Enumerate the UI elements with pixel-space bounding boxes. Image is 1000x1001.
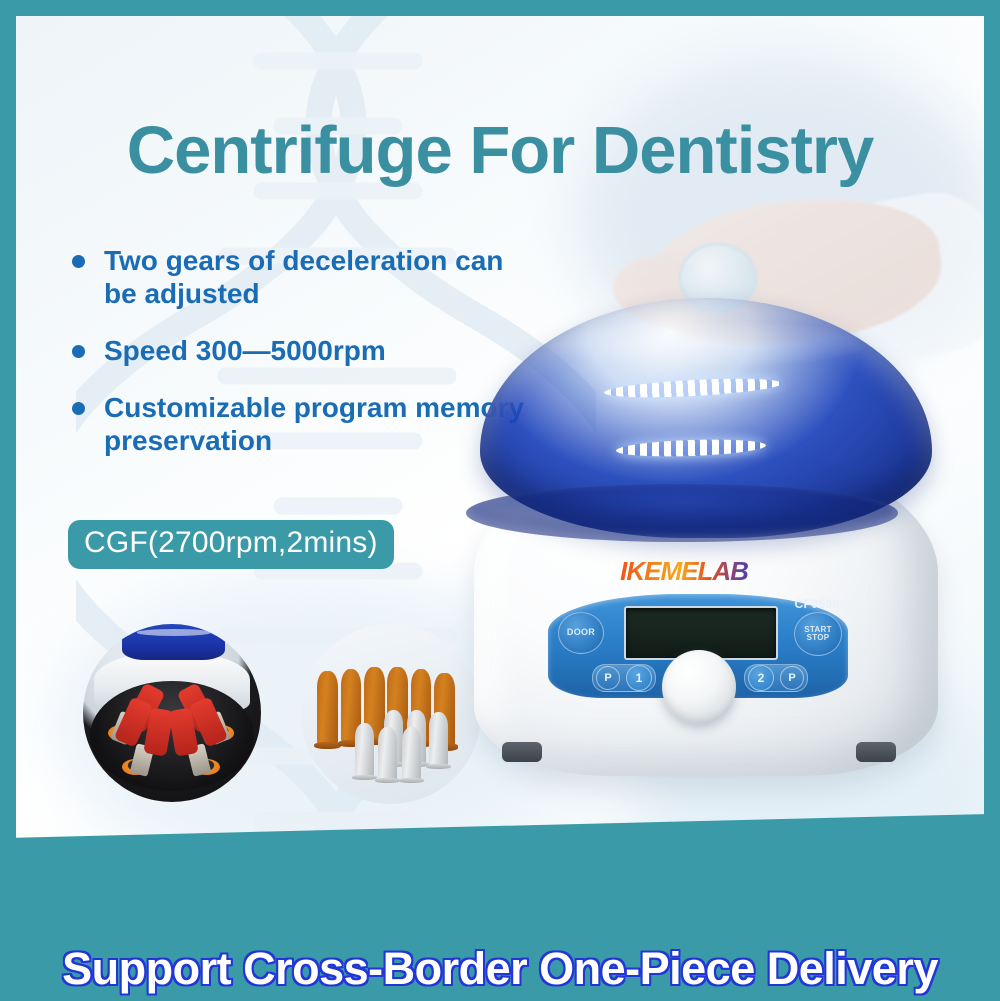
thumbnail-tube-adapters	[301, 624, 481, 804]
content-panel: Centrifuge For Dentistry Two gears of de…	[16, 16, 984, 888]
product-poster: Centrifuge For Dentistry Two gears of de…	[0, 0, 1000, 1001]
program-button-group-left[interactable]: P 1	[592, 664, 656, 692]
bullet-dot-icon	[72, 255, 85, 268]
bullet-dot-icon	[72, 402, 85, 415]
bottom-banner: Support Cross-Border One-Piece Delivery	[0, 881, 1000, 1001]
rotor-blue-lid	[122, 624, 225, 660]
white-adapter	[429, 712, 448, 766]
orange-adapter	[317, 671, 338, 745]
program-button-group-right[interactable]: 2 P	[744, 664, 808, 692]
white-adapter	[355, 723, 374, 777]
door-button[interactable]: DOOR	[558, 612, 604, 654]
program-p-button[interactable]: P	[780, 666, 804, 690]
program-2-button[interactable]: 2	[748, 665, 774, 691]
centrifuge-machine: IKEMELAB CF0506 DOOR START STOP P 1 2 P	[456, 298, 956, 808]
rubber-foot	[502, 742, 542, 762]
model-number: CF0506	[786, 597, 848, 611]
banner-text: Support Cross-Border One-Piece Delivery	[0, 943, 1000, 995]
brand-logo: IKEMELAB	[584, 556, 784, 587]
lid-gloss-highlight	[543, 320, 868, 368]
white-adapter	[402, 727, 421, 781]
page-title: Centrifuge For Dentistry	[16, 112, 984, 189]
start-stop-button[interactable]: START STOP	[794, 612, 842, 656]
white-adapter	[378, 727, 397, 781]
program-p-button[interactable]: P	[596, 666, 620, 690]
cgf-spec-badge: CGF(2700rpm,2mins)	[68, 520, 394, 569]
lid-rim	[466, 484, 898, 542]
bullet-dot-icon	[72, 345, 85, 358]
panel-diagonal-cut	[16, 813, 984, 888]
feature-text: Speed 300—5000rpm	[104, 335, 386, 366]
rubber-foot	[856, 742, 896, 762]
thumbnail-rotor-with-tubes	[83, 624, 261, 802]
feature-text: Two gears of deceleration can be adjuste…	[104, 245, 503, 309]
control-knob[interactable]	[662, 650, 736, 724]
program-1-button[interactable]: 1	[626, 665, 652, 691]
